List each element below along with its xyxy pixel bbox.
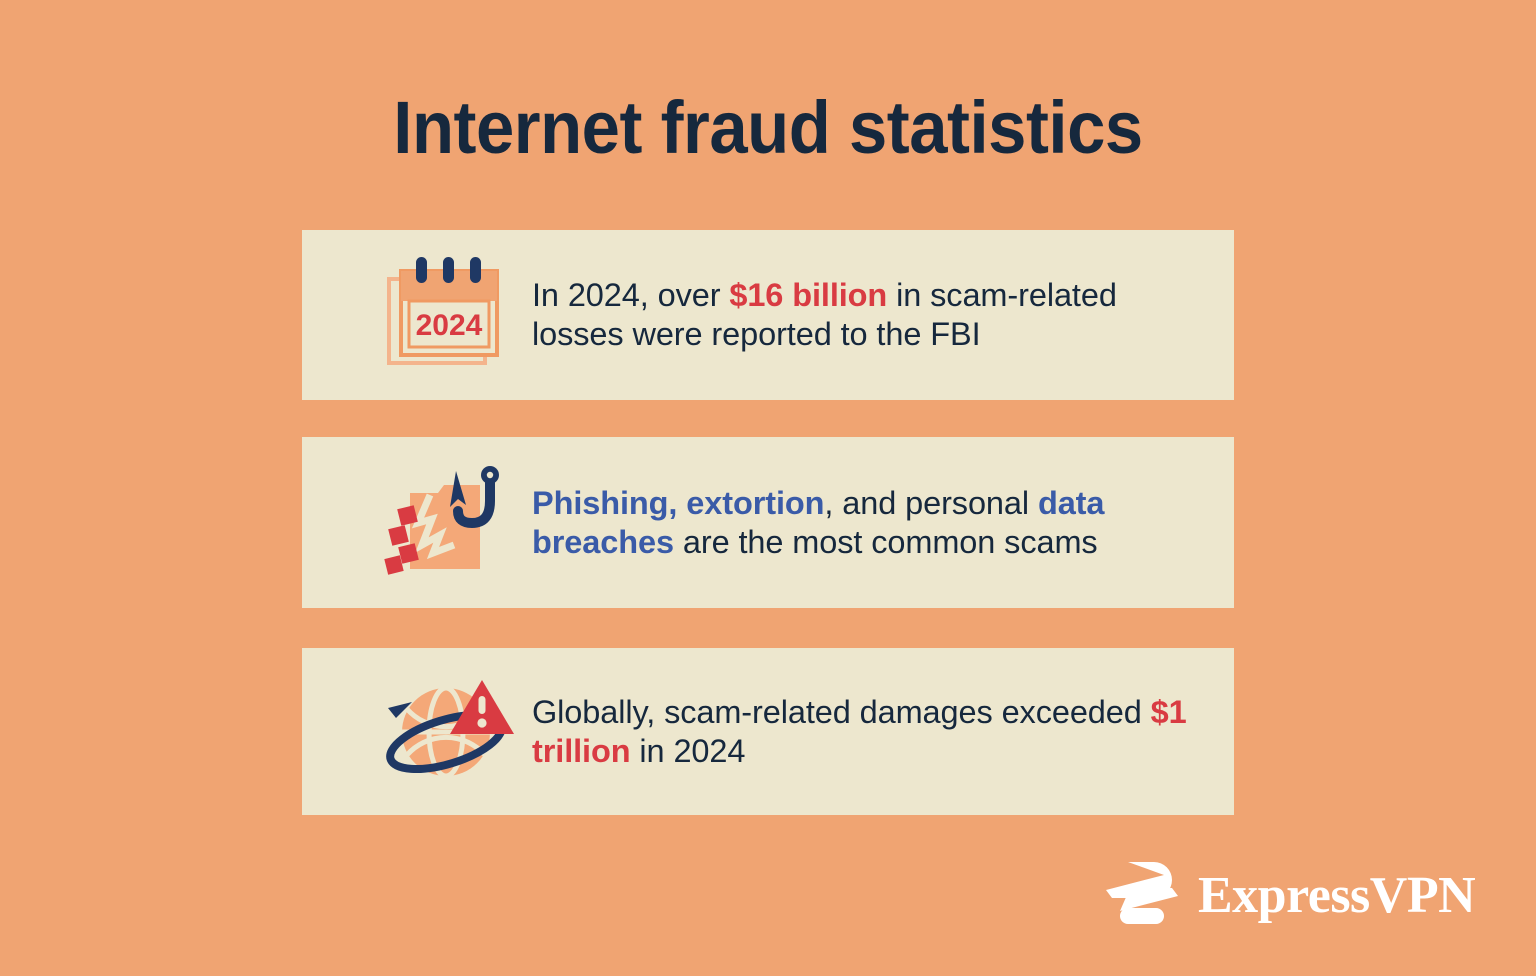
stat-card-text: Globally, scam-related damages exceeded …	[532, 693, 1234, 771]
stat-card: Globally, scam-related damages exceeded …	[302, 648, 1234, 815]
highlight-amount: $16 billion	[729, 277, 887, 313]
text-segment: are the most common scams	[674, 524, 1098, 560]
highlight-term: Phishing, extortion	[532, 485, 824, 521]
stat-card: 2024 In 2024, over $16 billion in scam-r…	[302, 230, 1234, 400]
calendar-year-text: 2024	[416, 309, 483, 342]
brand-logo: ExpressVPN	[1104, 862, 1475, 929]
text-segment: in 2024	[631, 733, 746, 769]
stat-card-text: Phishing, extortion, and personal data b…	[532, 484, 1234, 562]
brand-wordmark: ExpressVPN	[1198, 868, 1475, 924]
page-title: Internet fraud statistics	[54, 86, 1482, 170]
text-segment: In 2024, over	[532, 277, 729, 313]
stat-card: Phishing, extortion, and personal data b…	[302, 437, 1234, 608]
calendar-2024-icon: 2024	[364, 250, 532, 380]
stat-card-text: In 2024, over $16 billion in scam-relate…	[532, 276, 1234, 354]
text-segment: , and personal	[824, 485, 1038, 521]
expressvpn-e-logo-icon	[1104, 862, 1180, 929]
phishing-hook-data-breach-icon	[364, 458, 532, 588]
globe-warning-icon	[364, 667, 532, 797]
text-segment: Globally, scam-related damages exceeded	[532, 694, 1151, 730]
